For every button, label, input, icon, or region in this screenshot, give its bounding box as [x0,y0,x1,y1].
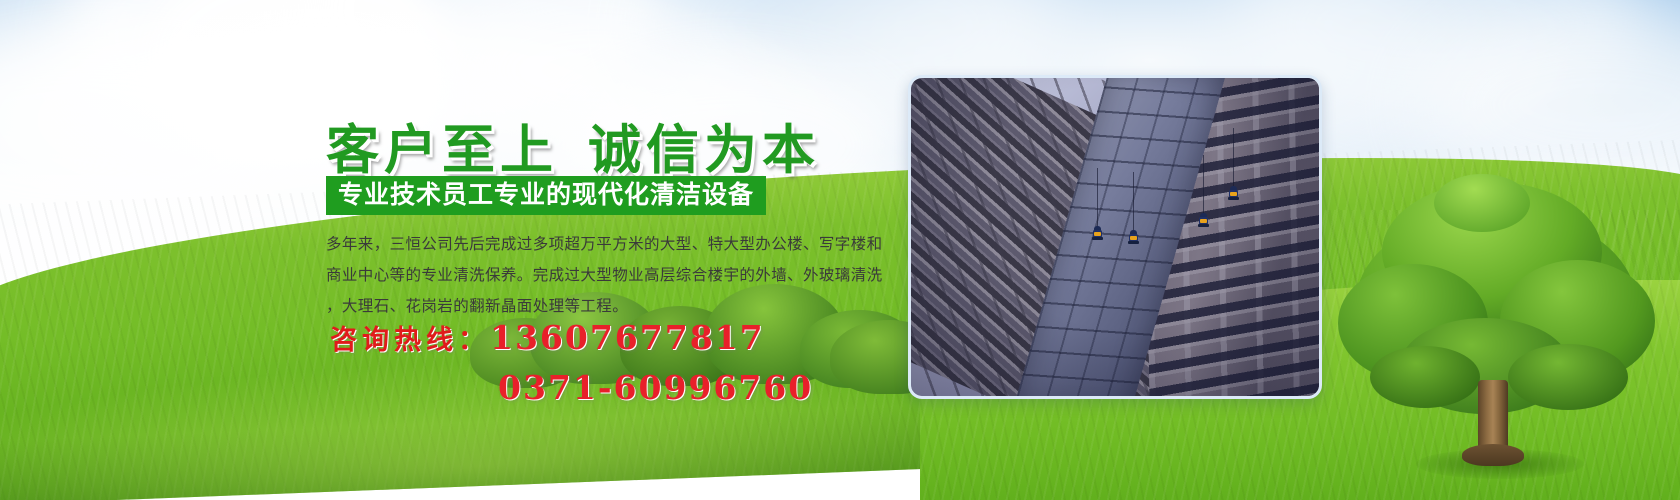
photo-vignette [911,78,1319,396]
hotline-block: 咨询热线：13607677817 0371-60996760 [330,320,890,407]
tree-canopy [1370,346,1480,408]
photo-image [911,78,1319,396]
hotline-secondary-row: 0371-60996760 [330,370,890,406]
description-line: 商业中心等的专业清洗保养。完成过大型物业高层综合楼宇的外墙、外玻璃清洗 [326,263,886,288]
description-line: ，大理石、花岗岩的翻新晶面处理等工程。 [326,294,886,319]
high-rise-window-cleaning-photo[interactable] [908,75,1322,399]
description-line: 多年来，三恒公司先后完成过多项超万平方米的大型、特大型办公楼、写字楼和 [326,232,886,257]
hotline-secondary-number[interactable]: 0371-60996760 [498,368,813,407]
page-title: 客户至上诚信为本 [326,108,820,184]
tree-canopy [1508,344,1628,410]
tree-trunk [1478,380,1508,462]
headline-part-1: 客户至上 [326,119,558,181]
hotline-label: 咨询热线： [330,325,490,356]
subtitle-bar-label: 专业技术员工专业的现代化清洁设备 [338,182,754,207]
hotline-primary-row: 咨询热线：13607677817 [330,320,890,356]
subtitle-bar: 专业技术员工专业的现代化清洁设备 [326,176,766,215]
tree-canopy [1434,174,1530,232]
headline-part-2: 诚信为本 [588,119,820,181]
promo-banner: 客户至上诚信为本 专业技术员工专业的现代化清洁设备 多年来，三恒公司先后完成过多… [0,0,1680,500]
hotline-primary-number[interactable]: 13607677817 [490,318,765,357]
green-tree [1330,168,1660,468]
description-paragraph: 多年来，三恒公司先后完成过多项超万平方米的大型、特大型办公楼、写字楼和 商业中心… [326,232,886,325]
